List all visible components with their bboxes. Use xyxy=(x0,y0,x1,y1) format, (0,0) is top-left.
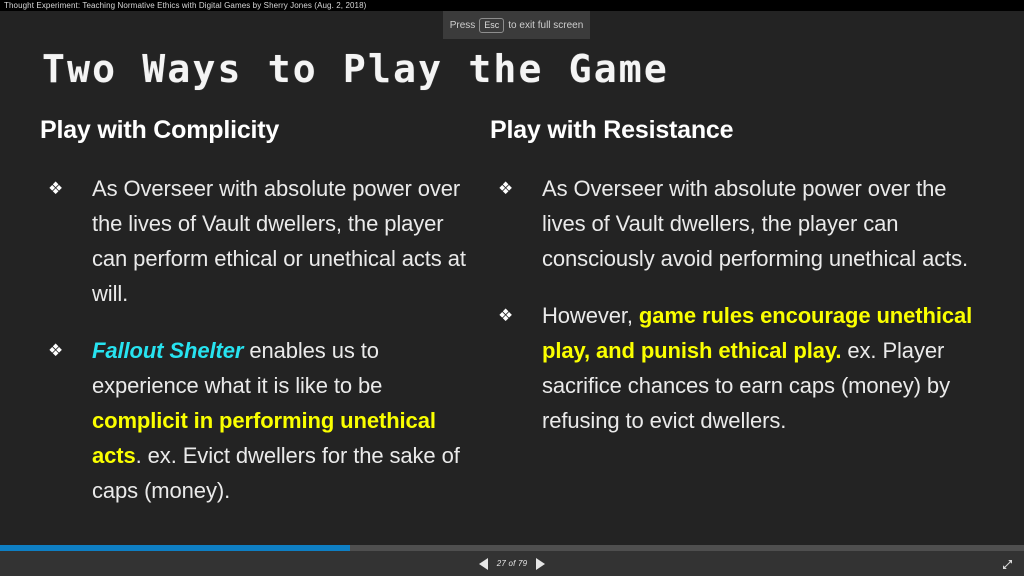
presentation-viewer: Thought Experiment: Teaching Normative E… xyxy=(0,0,1024,576)
diamond-bullet-icon: ❖ xyxy=(40,333,92,368)
esc-key-badge: Esc xyxy=(479,18,504,33)
slide-navigation: 27 of 79 xyxy=(0,551,1024,576)
diamond-bullet-icon: ❖ xyxy=(490,171,542,206)
list-item: ❖ As Overseer with absolute power over t… xyxy=(490,171,990,276)
text-run-plain: As Overseer with absolute power over the… xyxy=(542,176,968,271)
list-item: ❖ As Overseer with absolute power over t… xyxy=(40,171,480,311)
presentation-toolbar: 27 of 79 xyxy=(0,551,1024,576)
list-item: ❖ However, game rules encourage unethica… xyxy=(490,298,990,438)
expand-diagonal-icon[interactable] xyxy=(998,555,1016,573)
slide-title: Two Ways to Play the Game xyxy=(42,47,669,91)
column-heading: Play with Resistance xyxy=(490,115,990,145)
bullet-text: However, game rules encourage unethical … xyxy=(542,298,990,438)
bullet-text: As Overseer with absolute power over the… xyxy=(542,171,990,276)
window-titlebar: Thought Experiment: Teaching Normative E… xyxy=(0,0,1024,11)
slide-counter: 27 of 79 xyxy=(497,559,528,568)
bullet-text: Fallout Shelter enables us to experience… xyxy=(92,333,480,508)
hint-suffix: to exit full screen xyxy=(508,20,583,31)
text-run-plain: . ex. Evict dwellers for the sake of cap… xyxy=(92,443,460,503)
column-heading: Play with Complicity xyxy=(40,115,480,145)
exit-fullscreen-hint: Press Esc to exit full screen xyxy=(443,11,590,39)
triangle-left-icon[interactable] xyxy=(479,558,488,570)
text-run-plain: However, xyxy=(542,303,639,328)
hint-prefix: Press xyxy=(450,20,476,31)
bullet-text: As Overseer with absolute power over the… xyxy=(92,171,480,311)
text-run-plain: As Overseer with absolute power over the… xyxy=(92,176,466,306)
diamond-bullet-icon: ❖ xyxy=(40,171,92,206)
slide-stage: Two Ways to Play the Game Play with Comp… xyxy=(0,11,1024,545)
text-run-cyan: Fallout Shelter xyxy=(92,338,243,363)
triangle-right-icon[interactable] xyxy=(536,558,545,570)
column-complicity: Play with Complicity ❖ As Overseer with … xyxy=(40,115,480,530)
diamond-bullet-icon: ❖ xyxy=(490,298,542,333)
list-item: ❖ Fallout Shelter enables us to experien… xyxy=(40,333,480,508)
column-resistance: Play with Resistance ❖ As Overseer with … xyxy=(490,115,990,460)
